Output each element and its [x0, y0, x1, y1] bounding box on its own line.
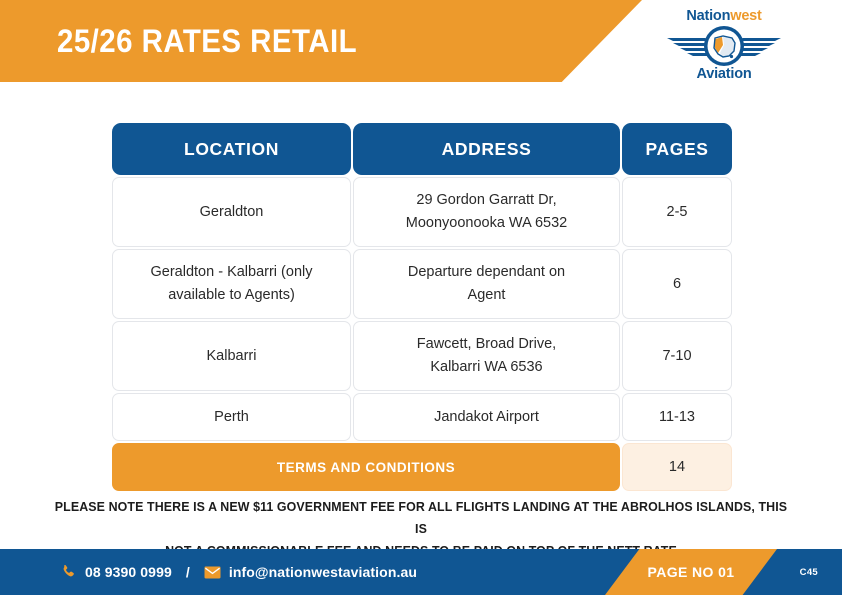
column-header-pages: PAGES	[622, 123, 732, 175]
company-logo: Nationwest	[663, 8, 785, 86]
column-header-location: LOCATION	[112, 123, 351, 175]
cell-location-line2: available to Agents)	[168, 287, 295, 303]
page-footer: 08 9390 0999 / info@nationwestaviation.a…	[0, 549, 842, 595]
page-title: 25/26 RATES RETAIL	[57, 20, 357, 62]
cell-pages: 7-10	[622, 321, 732, 391]
logo-tagline: Aviation	[663, 66, 785, 82]
cell-pages: 11-13	[622, 393, 732, 441]
cell-pages: 6	[622, 249, 732, 319]
logo-word-west: west	[730, 8, 761, 24]
cell-address-line1: Departure dependant on	[408, 264, 565, 280]
footer-document-code: C45	[800, 549, 818, 595]
rates-table: LOCATION ADDRESS PAGES Geraldton 29 Gord…	[112, 123, 732, 493]
footer-separator: /	[186, 564, 190, 580]
cell-address: Departure dependant on Agent	[353, 249, 620, 319]
cell-address: 29 Gordon Garratt Dr, Moonyoonooka WA 65…	[353, 177, 620, 247]
cell-address: Jandakot Airport	[353, 393, 620, 441]
logo-word-nation: Nation	[686, 8, 730, 24]
note-line-1: PLEASE NOTE THERE IS A NEW $11 GOVERNMEN…	[51, 496, 790, 540]
terms-pages-cell: 14	[622, 443, 732, 491]
envelope-icon	[204, 564, 221, 581]
footer-page-number: PAGE NO 01	[605, 549, 777, 595]
cell-address-line1: Fawcett, Broad Drive,	[417, 336, 556, 352]
cell-location: Geraldton - Kalbarri (only available to …	[112, 249, 351, 319]
cell-address-line2: Moonyoonooka WA 6532	[406, 215, 568, 231]
footer-email[interactable]: info@nationwestaviation.au	[229, 564, 417, 580]
cell-address: Fawcett, Broad Drive, Kalbarri WA 6536	[353, 321, 620, 391]
table-row: Geraldton - Kalbarri (only available to …	[112, 249, 732, 319]
winged-globe-australia-emblem-icon	[663, 25, 785, 67]
table-header-row: LOCATION ADDRESS PAGES	[112, 123, 732, 175]
table-row: Perth Jandakot Airport 11-13	[112, 393, 732, 441]
column-header-address: ADDRESS	[353, 123, 620, 175]
footer-contact-group: 08 9390 0999 / info@nationwestaviation.a…	[60, 549, 417, 595]
table-row: Geraldton 29 Gordon Garratt Dr, Moonyoon…	[112, 177, 732, 247]
rates-retail-page: 25/26 RATES RETAIL Nationwest	[0, 0, 842, 595]
cell-location-line1: Geraldton - Kalbarri (only	[151, 264, 313, 280]
table-row: Kalbarri Fawcett, Broad Drive, Kalbarri …	[112, 321, 732, 391]
cell-location: Kalbarri	[112, 321, 351, 391]
cell-address-line2: Agent	[468, 287, 506, 303]
terms-and-conditions-cell[interactable]: TERMS AND CONDITIONS	[112, 443, 620, 491]
cell-location: Geraldton	[112, 177, 351, 247]
cell-address-line1: 29 Gordon Garratt Dr,	[416, 192, 556, 208]
logo-wordmark: Nationwest	[663, 8, 785, 24]
cell-address-line2: Kalbarri WA 6536	[430, 359, 542, 375]
cell-location: Perth	[112, 393, 351, 441]
phone-icon	[60, 564, 77, 581]
table-terms-row: TERMS AND CONDITIONS 14	[112, 443, 732, 491]
cell-pages: 2-5	[622, 177, 732, 247]
footer-phone[interactable]: 08 9390 0999	[85, 564, 172, 580]
